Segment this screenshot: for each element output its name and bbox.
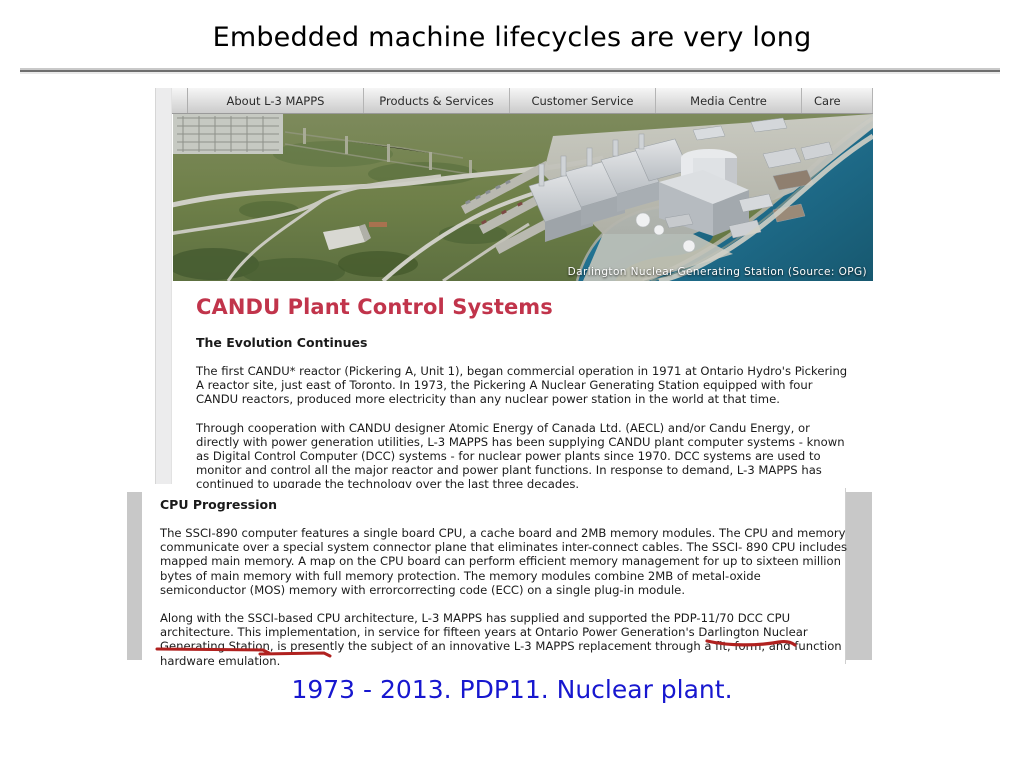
nav-left-spacer — [172, 88, 188, 113]
aerial-photo-nuclear-plant-icon — [173, 114, 873, 281]
hero-photo: Darlington Nuclear Generating Station (S… — [173, 114, 873, 281]
nav-item-media-centre[interactable]: Media Centre — [656, 88, 802, 113]
article-subheading: The Evolution Continues — [196, 335, 849, 350]
nav-item-customer-service[interactable]: Customer Service — [510, 88, 656, 113]
article-heading: CANDU Plant Control Systems — [196, 295, 849, 319]
hero-caption: Darlington Nuclear Generating Station (S… — [568, 266, 867, 278]
page-title: Embedded machine lifecycles are very lon… — [0, 22, 1024, 53]
nav-item-careers[interactable]: Care — [802, 88, 873, 113]
title-divider — [20, 68, 1000, 74]
cpu-paragraph-1: The SSCI-890 computer features a single … — [160, 526, 850, 597]
slide-canvas: Embedded machine lifecycles are very lon… — [0, 0, 1024, 768]
bottom-caption: 1973 - 2013. PDP11. Nuclear plant. — [0, 675, 1024, 704]
cpu-paragraph-2: Along with the SSCI-based CPU architectu… — [160, 611, 850, 668]
page-left-gutter — [156, 88, 172, 484]
site-navigation[interactable]: About L-3 MAPPS Products & Services Cust… — [172, 88, 873, 114]
nav-item-products-services[interactable]: Products & Services — [364, 88, 510, 113]
capture-left-bar — [127, 492, 142, 660]
nav-item-about[interactable]: About L-3 MAPPS — [188, 88, 364, 113]
browser-capture-top: About L-3 MAPPS Products & Services Cust… — [155, 88, 872, 484]
cpu-section-heading: CPU Progression — [160, 497, 850, 512]
article-body: CANDU Plant Control Systems The Evolutio… — [173, 281, 873, 506]
cpu-section: CPU Progression The SSCI-890 computer fe… — [142, 488, 846, 664]
article-paragraph-2: Through cooperation with CANDU designer … — [196, 421, 849, 492]
article-paragraph-1: The first CANDU* reactor (Pickering A, U… — [196, 364, 849, 407]
browser-capture-bottom: CPU Progression The SSCI-890 computer fe… — [127, 488, 872, 664]
